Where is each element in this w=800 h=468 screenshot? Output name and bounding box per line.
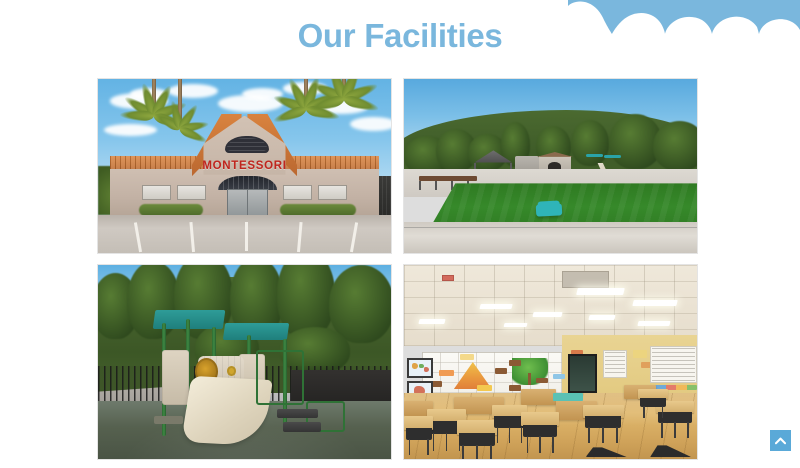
page-title: Our Facilities xyxy=(0,16,800,56)
see-saw xyxy=(536,204,563,218)
facility-photo-classroom[interactable]: Montessori classroom interior with woode… xyxy=(403,264,698,460)
facility-photo-play-field[interactable]: Outdoor play field with green artificial… xyxy=(403,78,698,254)
facade-window xyxy=(177,185,206,200)
student-desk xyxy=(404,416,433,455)
ceiling-light xyxy=(576,288,625,295)
ceiling-light xyxy=(479,304,513,309)
student-desk xyxy=(521,412,559,453)
exterior-window xyxy=(568,354,597,393)
knob xyxy=(227,366,236,376)
window-blinds xyxy=(603,350,626,377)
facility-photo-playground[interactable]: Playground structure with green canopies… xyxy=(97,264,392,460)
activity-tray xyxy=(553,393,582,401)
ceiling-vent xyxy=(562,271,609,288)
bench xyxy=(419,176,478,180)
facilities-gallery: MONTESSORI xyxy=(97,78,698,460)
wall-card xyxy=(509,385,521,391)
wall-card xyxy=(460,354,475,360)
scroll-to-top-button[interactable] xyxy=(769,429,792,452)
ceiling-light xyxy=(632,300,677,306)
low-shelf xyxy=(521,389,556,405)
wall-card xyxy=(536,378,548,384)
facade-window xyxy=(142,185,171,200)
facade-window xyxy=(283,185,312,200)
exterior-scene: MONTESSORI xyxy=(98,79,391,253)
wall-card xyxy=(509,360,521,366)
wall-card xyxy=(553,374,565,380)
playground-scene xyxy=(98,265,391,459)
cloud-puff xyxy=(350,117,392,131)
student-desk xyxy=(638,389,667,418)
student-desk xyxy=(583,405,624,444)
ceiling-sensor xyxy=(442,275,454,281)
montessori-sign: MONTESSORI xyxy=(98,160,391,172)
canopy-right xyxy=(223,323,290,340)
step xyxy=(283,422,321,432)
chevron-up-icon xyxy=(775,437,786,445)
classroom-scene xyxy=(404,265,697,459)
wall-card xyxy=(633,350,648,358)
ceiling-light xyxy=(503,323,528,327)
ceiling-light xyxy=(638,321,671,326)
stair-rail xyxy=(256,350,304,404)
window-blinds xyxy=(650,346,697,383)
ceiling-light xyxy=(418,319,446,324)
world-map-poster xyxy=(407,358,433,377)
arched-window xyxy=(225,136,269,153)
tree xyxy=(329,265,392,343)
step xyxy=(154,416,183,424)
wall-card xyxy=(477,385,492,391)
wall-card xyxy=(439,370,454,376)
facility-photo-exterior[interactable]: MONTESSORI xyxy=(97,78,392,254)
play-panel xyxy=(162,350,188,404)
wall-card xyxy=(495,368,507,374)
parking-stripe xyxy=(245,222,248,252)
walkway xyxy=(404,222,697,253)
facade-window xyxy=(318,185,347,200)
ceiling-light xyxy=(532,312,563,317)
step xyxy=(277,409,318,419)
facilities-page: Our Facilities xyxy=(0,0,800,468)
tree xyxy=(653,121,698,171)
ceiling-light xyxy=(588,315,616,320)
play-field-scene xyxy=(404,79,697,253)
